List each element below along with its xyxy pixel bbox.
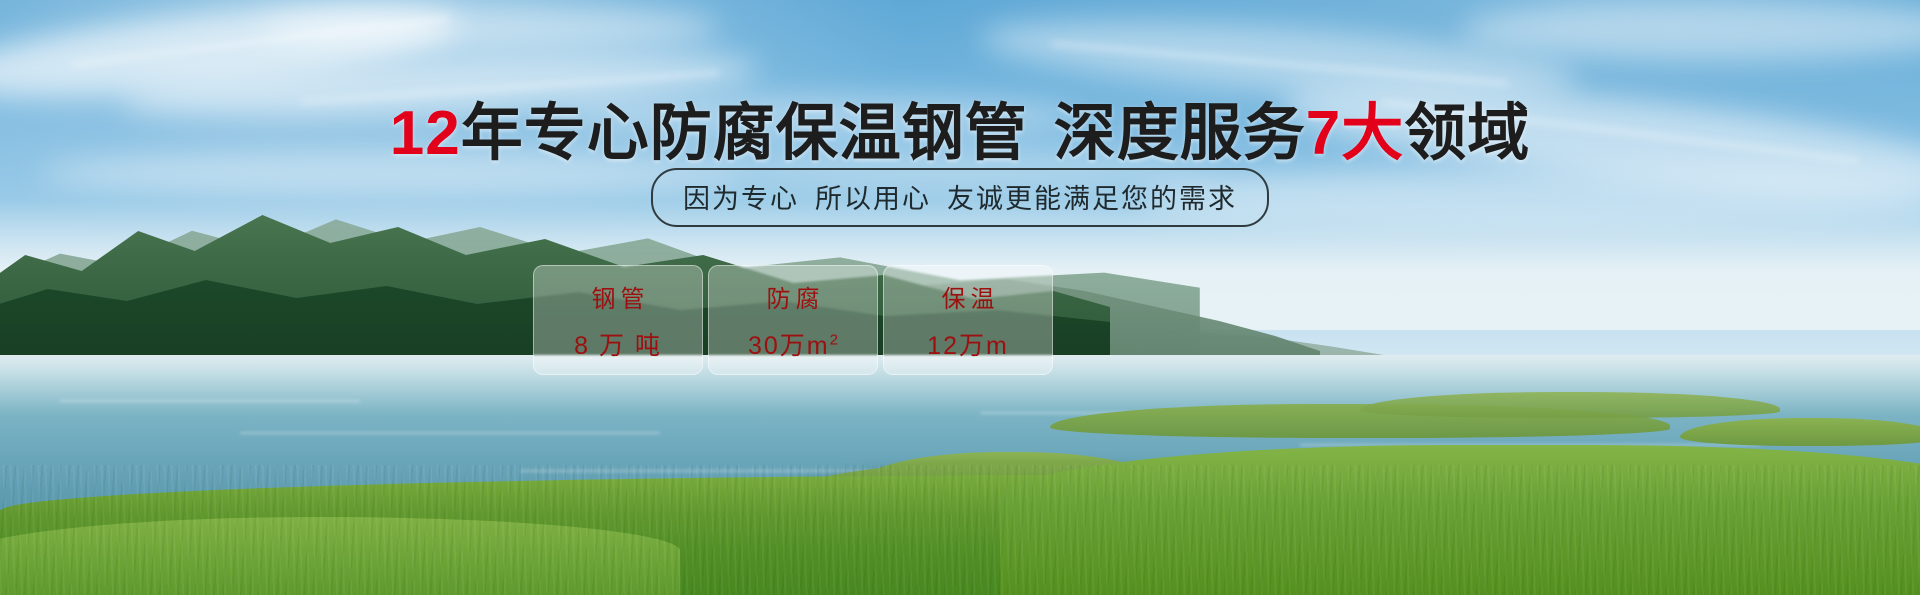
stat-card-anticorrosion: 防腐 30万m2 xyxy=(708,265,878,375)
hero-banner: 12年专心防腐保温钢管深度服务7大领域 因为专心所以用心友诚更能满足您的需求 钢… xyxy=(0,0,1920,595)
stat-value: 12万m xyxy=(927,326,1009,362)
headline-service-text: 深度服务 xyxy=(1054,99,1306,168)
headline: 12年专心防腐保温钢管深度服务7大领域 xyxy=(0,82,1920,172)
stat-label: 保温 xyxy=(937,279,1000,314)
subtitle-segment-1: 因为专心 xyxy=(683,184,799,214)
headline-years-number: 12 xyxy=(390,99,461,168)
banner-content: 12年专心防腐保温钢管深度服务7大领域 因为专心所以用心友诚更能满足您的需求 钢… xyxy=(0,0,1920,595)
stat-card-steel-pipe: 钢管 8 万 吨 xyxy=(533,265,703,375)
headline-fields-number: 7 xyxy=(1306,99,1341,168)
subtitle-segment-3: 友诚更能满足您的需求 xyxy=(947,184,1237,214)
subtitle-pill: 因为专心所以用心友诚更能满足您的需求 xyxy=(651,168,1269,227)
headline-fields-text: 领域 xyxy=(1404,99,1530,168)
headline-main-text: 年专心防腐保温钢管 xyxy=(461,99,1028,168)
stat-value: 8 万 吨 xyxy=(574,326,662,362)
stat-card-insulation: 保温 12万m xyxy=(883,265,1053,375)
stat-label: 钢管 xyxy=(587,279,650,314)
stats-row: 钢管 8 万 吨 防腐 30万m2 保温 12万m xyxy=(533,265,1053,375)
stat-label: 防腐 xyxy=(762,279,825,314)
subtitle-segment-2: 所以用心 xyxy=(815,184,931,214)
headline-fields-unit: 大 xyxy=(1341,99,1404,168)
stat-value: 30万m2 xyxy=(748,326,838,362)
stat-unit-superscript: 2 xyxy=(830,331,838,348)
